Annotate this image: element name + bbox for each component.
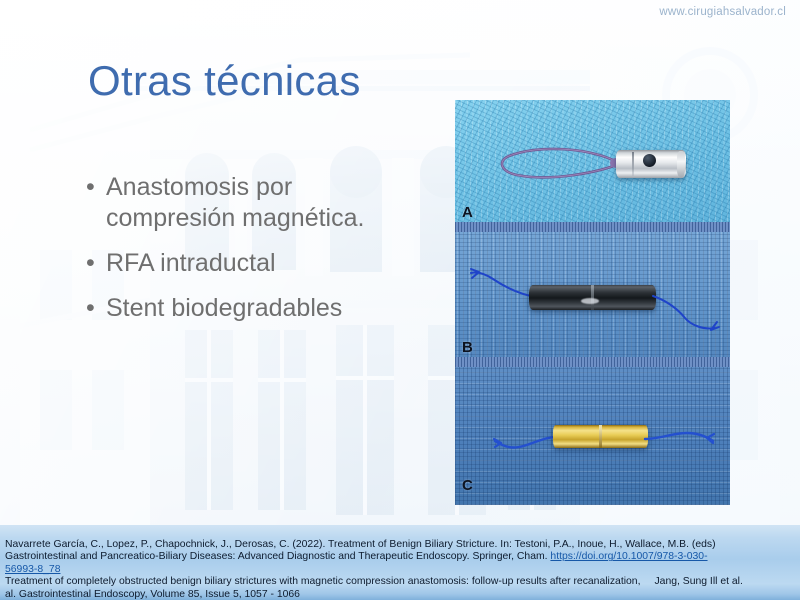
doi-link-continuation[interactable]: 56993-8_78 — [5, 564, 60, 575]
black-magnet-cylinder — [529, 285, 656, 310]
gold-magnet-cylinder — [553, 425, 648, 448]
citation-line-4: Treatment of completely obstructed benig… — [5, 576, 797, 588]
list-item-label: Stent biodegradables — [106, 294, 342, 322]
list-item: • RFA intraductal — [84, 248, 394, 279]
bullet-list: • Anastomosis por compresión magnética. … — [84, 172, 394, 338]
citation-line-1: Navarrete García, C., Lopez, P., Chapoch… — [5, 539, 797, 551]
citation-2-authors: Jang, Sung Ill et al. — [654, 576, 742, 587]
citation-line-3: 56993-8_78 — [5, 564, 797, 576]
figure-panel-b: B — [455, 232, 730, 367]
drape-seam — [455, 357, 730, 367]
device-joint — [599, 425, 602, 448]
chrome-magnet-cylinder — [616, 150, 686, 178]
figure-panel-a: A — [455, 100, 730, 232]
device-slit — [632, 152, 634, 176]
panel-label-a: A — [462, 204, 473, 221]
list-item-label: RFA intraductal — [106, 249, 276, 277]
doi-link[interactable]: https://doi.org/10.1007/978-3-030- — [550, 551, 707, 562]
site-url-watermark: www.cirugiahsalvador.cl — [659, 6, 786, 18]
list-item: • Anastomosis por compresión magnética. — [84, 172, 394, 234]
device-specular-highlight — [581, 298, 599, 304]
slide-canvas: www.cirugiahsalvador.cl Otras técnicas •… — [0, 0, 800, 600]
citation-line-2: Gastrointestinal and Pancreatico-Biliary… — [5, 551, 797, 563]
footer-citation-band: Navarrete García, C., Lopez, P., Chapoch… — [0, 525, 800, 600]
purple-loop-suture — [495, 142, 621, 182]
device-end-cap — [677, 151, 685, 177]
list-item: • Stent biodegradables — [84, 293, 394, 324]
figure-magnet-devices: A B — [455, 100, 730, 505]
citation-2-journal: al. Gastrointestinal Endoscopy, Volume 8… — [5, 589, 300, 600]
bullet-dot-icon: • — [86, 293, 95, 324]
list-item-label: Anastomosis por compresión magnética. — [106, 173, 364, 232]
device-hole — [643, 154, 656, 167]
citation-2-title: Treatment of completely obstructed benig… — [5, 576, 640, 587]
bullet-dot-icon: • — [86, 248, 95, 279]
blue-suture-thread-left — [493, 429, 559, 455]
drape-seam — [455, 222, 730, 232]
panel-label-b: B — [462, 339, 473, 356]
page-title: Otras técnicas — [88, 57, 361, 105]
citation-line-2-text: Gastrointestinal and Pancreatico-Biliary… — [5, 551, 550, 562]
blue-suture-thread-right — [651, 294, 721, 332]
figure-panel-c: C — [455, 367, 730, 505]
panel-label-c: C — [462, 477, 473, 494]
citation-block: Navarrete García, C., Lopez, P., Chapoch… — [5, 539, 797, 600]
bullet-dot-icon: • — [86, 172, 95, 203]
citation-line-5: al. Gastrointestinal Endoscopy, Volume 8… — [5, 589, 797, 600]
blue-suture-thread-right — [643, 427, 715, 453]
